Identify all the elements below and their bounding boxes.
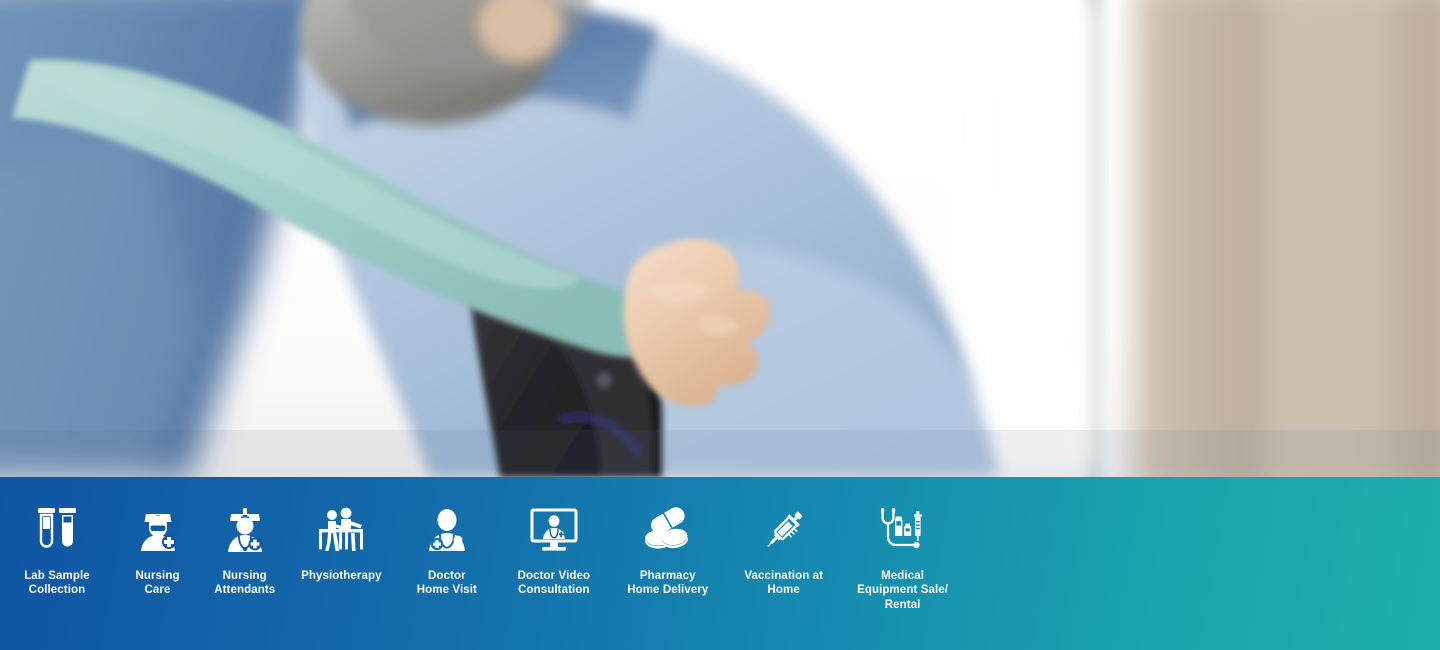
services-bar: Lab Sample Collection — [0, 477, 1440, 650]
service-item-physiotherapy[interactable]: Physiotherapy — [288, 503, 394, 583]
service-item-pharmacy-home-delivery[interactable]: Pharmacy Home Delivery — [608, 503, 727, 598]
service-item-doctor-video-consultation[interactable]: Doctor Video Consultation — [499, 503, 608, 598]
service-item-vaccination-at-home[interactable]: Vaccination at Home — [727, 503, 840, 598]
service-label: Lab Sample Collection — [24, 569, 90, 598]
service-label: Doctor Home Visit — [417, 569, 477, 598]
service-label: Nursing Attendants — [214, 569, 275, 598]
service-label: Medical Equipment Sale/ Rental — [857, 569, 948, 612]
service-label: Physiotherapy — [301, 569, 382, 583]
nurse-icon — [130, 503, 186, 557]
nurse-attendant-icon — [217, 503, 273, 557]
service-item-lab-sample-collection[interactable]: Lab Sample Collection — [0, 503, 114, 598]
page-root: Lab Sample Collection — [0, 0, 1440, 650]
doctor-home-visit-icon — [419, 503, 475, 557]
medical-equipment-icon — [875, 503, 931, 557]
hero-photo-illustration — [0, 0, 1440, 477]
service-item-medical-equipment[interactable]: Medical Equipment Sale/ Rental — [840, 503, 965, 612]
services-list: Lab Sample Collection — [0, 503, 965, 612]
service-label: Pharmacy Home Delivery — [627, 569, 708, 598]
service-item-nursing-care[interactable]: Nursing Care — [114, 503, 201, 598]
hero-photo — [0, 0, 1440, 477]
test-tubes-icon — [29, 503, 85, 557]
pills-icon — [640, 503, 696, 557]
service-label: Vaccination at Home — [744, 569, 823, 598]
syringe-icon — [756, 503, 812, 557]
service-item-doctor-home-visit[interactable]: Doctor Home Visit — [394, 503, 499, 598]
service-item-nursing-attendants[interactable]: Nursing Attendants — [201, 503, 288, 598]
service-label: Doctor Video Consultation — [518, 569, 591, 598]
service-label: Nursing Care — [135, 569, 179, 598]
physiotherapy-icon — [313, 503, 369, 557]
video-consult-icon — [526, 503, 582, 557]
